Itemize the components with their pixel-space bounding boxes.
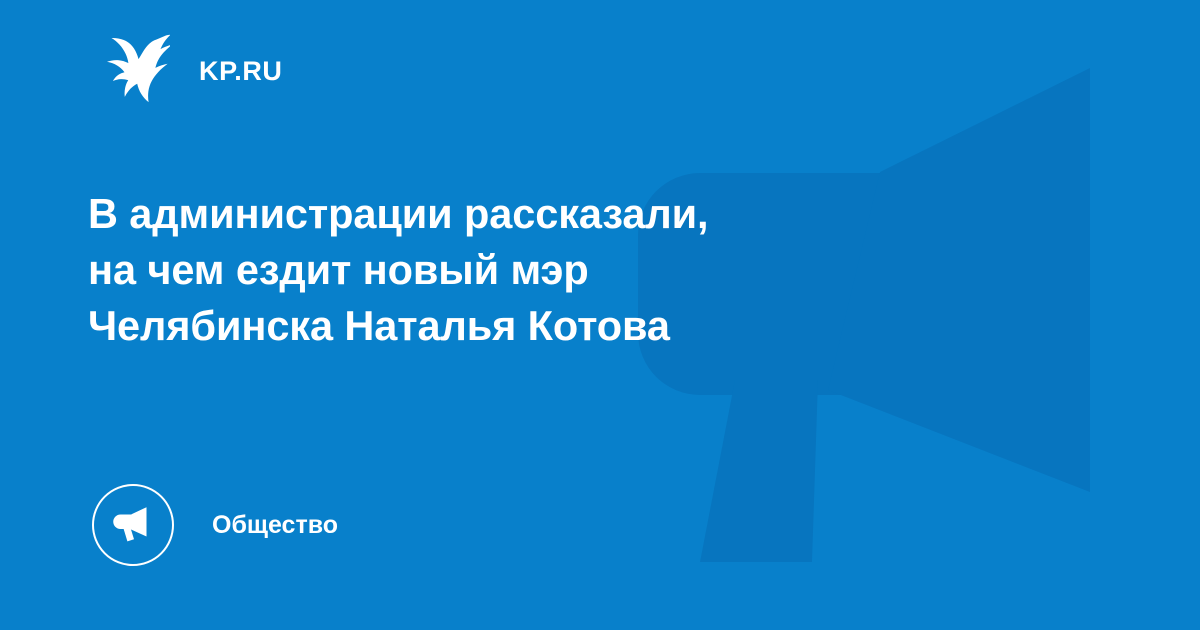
category-badge[interactable] (92, 484, 174, 566)
brand-header[interactable]: KP.RU (96, 32, 283, 110)
headline-line-2: на чем ездит новый мэр (88, 242, 988, 298)
brand-wordmark: KP.RU (199, 58, 283, 85)
category-row[interactable]: Общество (92, 484, 338, 566)
headline-line-3: Челябинска Наталья Котова (88, 298, 988, 354)
headline-line-1: В администрации рассказали, (88, 186, 988, 242)
megaphone-icon (111, 505, 155, 545)
category-label: Общество (212, 513, 338, 538)
headline: В администрации рассказали, на чем ездит… (88, 186, 988, 354)
swallow-bird-icon (96, 34, 170, 108)
social-share-card: KP.RU В администрации рассказали, на чем… (0, 0, 1200, 630)
